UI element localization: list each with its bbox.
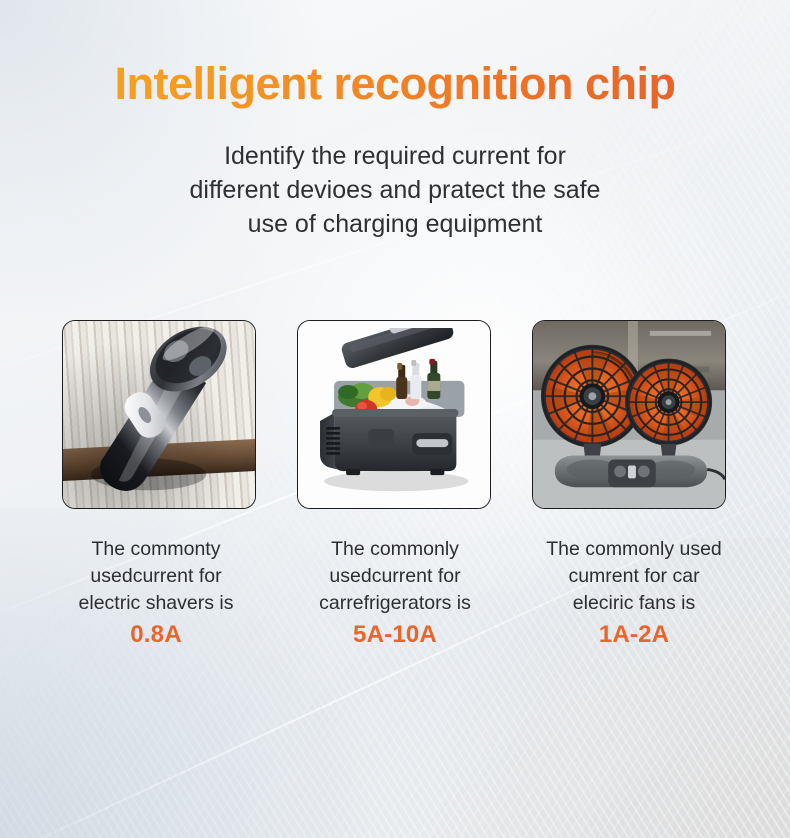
page-title: Intelligent recognition chip bbox=[0, 58, 790, 110]
car-refrigerator-photo bbox=[304, 328, 484, 500]
product-image-row bbox=[62, 320, 726, 510]
product-card-car-electric-fan bbox=[532, 320, 726, 509]
caption-line: usedcurrent for bbox=[40, 563, 272, 590]
caption-line: The commonty bbox=[40, 536, 272, 563]
caption-line: electric shavers is bbox=[40, 590, 272, 617]
current-value-fan: 1A-2A bbox=[518, 621, 750, 649]
product-card-electric-shaver bbox=[62, 320, 256, 509]
product-card-car-refrigerator bbox=[297, 320, 491, 509]
caption-car-refrigerator: The commonly usedcurrent for carrefriger… bbox=[279, 536, 511, 649]
subtitle-line-3: use of charging equipment bbox=[0, 207, 790, 241]
caption-line: cumrent for car bbox=[518, 563, 750, 590]
car-electric-fan-photo bbox=[533, 321, 725, 508]
caption-line: usedcurrent for bbox=[279, 563, 511, 590]
caption-line: carrefrigerators is bbox=[279, 590, 511, 617]
subtitle-line-2: different devioes and pratect the safe bbox=[0, 173, 790, 207]
caption-car-electric-fan: The commonly used cumrent for car elecir… bbox=[518, 536, 750, 649]
page-subtitle: Identify the required current for differ… bbox=[0, 139, 790, 241]
caption-line: The commonly bbox=[279, 536, 511, 563]
electric-shaver-photo bbox=[71, 325, 240, 505]
current-value-refrigerator: 5A-10A bbox=[279, 621, 511, 649]
subtitle-line-1: Identify the required current for bbox=[0, 139, 790, 173]
current-value-shaver: 0.8A bbox=[40, 621, 272, 649]
promo-banner: Intelligent recognition chip Identify th… bbox=[0, 0, 790, 838]
caption-electric-shaver: The commonty usedcurrent for electric sh… bbox=[40, 536, 272, 649]
caption-row: The commonty usedcurrent for electric sh… bbox=[40, 536, 750, 649]
caption-line: The commonly used bbox=[518, 536, 750, 563]
caption-line: eleciric fans is bbox=[518, 590, 750, 617]
